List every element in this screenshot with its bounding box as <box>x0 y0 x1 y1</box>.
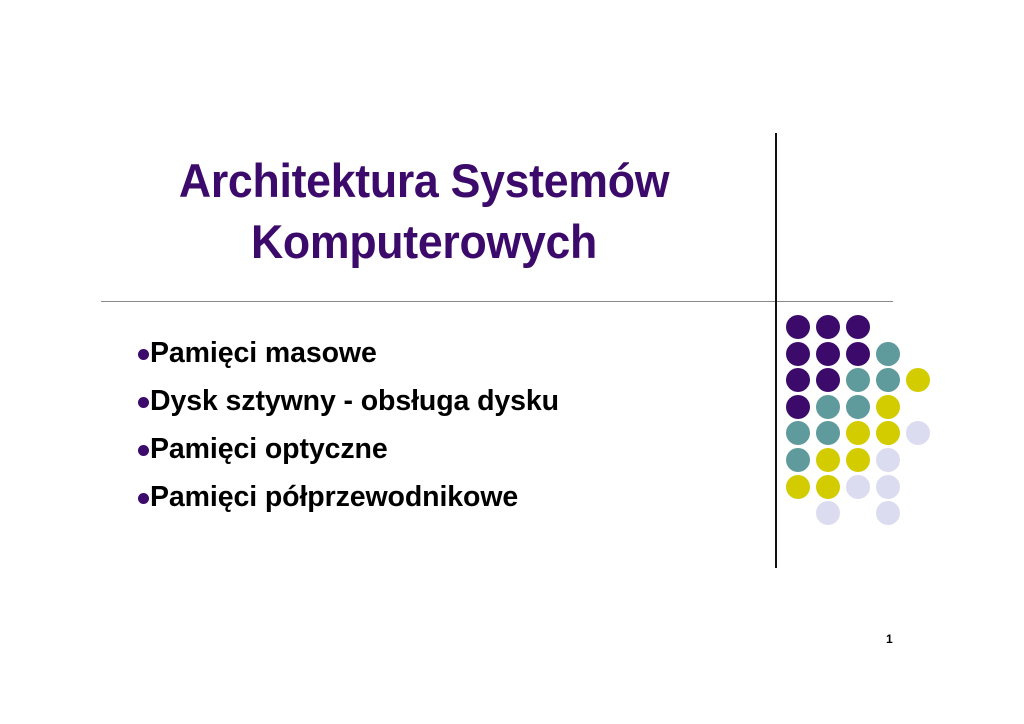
list-item: Pamięci półprzewodnikowe <box>138 473 738 521</box>
dot-purple-icon <box>786 395 810 419</box>
list-item-label: Pamięci masowe <box>150 336 377 370</box>
dot-lavender-icon <box>816 501 840 525</box>
dot-teal-icon <box>786 421 810 445</box>
dot-lavender-icon <box>876 448 900 472</box>
list-item: Dysk sztywny - obsługa dysku <box>138 377 738 425</box>
dot-matrix-row <box>786 395 936 422</box>
title-line-2: Komputerowych <box>103 211 745 272</box>
dot-purple-icon <box>846 342 870 366</box>
bullet-marker-icon <box>138 397 149 408</box>
vertical-divider-rule <box>775 133 777 568</box>
dot-purple-icon <box>786 315 810 339</box>
list-item-label: Pamięci półprzewodnikowe <box>150 480 518 514</box>
dot-yellow-icon <box>816 475 840 499</box>
dot-teal-icon <box>786 448 810 472</box>
dot-matrix-row <box>786 315 936 342</box>
dot-lavender-icon <box>876 475 900 499</box>
dot-teal-icon <box>816 421 840 445</box>
dot-yellow-icon <box>846 421 870 445</box>
slide-canvas: Architektura Systemów Komputerowych Pami… <box>0 0 1024 724</box>
dot-matrix-row <box>786 368 936 395</box>
dot-yellow-icon <box>816 448 840 472</box>
bullet-marker-icon <box>138 445 149 456</box>
dot-yellow-icon <box>876 421 900 445</box>
dot-yellow-icon <box>786 475 810 499</box>
dot-teal-icon <box>876 342 900 366</box>
dot-teal-icon <box>846 395 870 419</box>
dot-matrix-row <box>786 501 936 528</box>
dot-purple-icon <box>786 368 810 392</box>
dot-yellow-icon <box>846 448 870 472</box>
dot-purple-icon <box>786 342 810 366</box>
page-number: 1 <box>886 632 893 646</box>
dot-matrix-row <box>786 421 936 448</box>
list-item-label: Pamięci optyczne <box>150 432 388 466</box>
dot-teal-icon <box>816 395 840 419</box>
dot-lavender-icon <box>876 501 900 525</box>
list-item-label: Dysk sztywny - obsługa dysku <box>150 384 559 418</box>
bullet-marker-icon <box>138 493 149 504</box>
list-item: Pamięci masowe <box>138 329 738 377</box>
dot-yellow-icon <box>876 395 900 419</box>
dot-lavender-icon <box>906 421 930 445</box>
agenda-bullet-list: Pamięci masowe Dysk sztywny - obsługa dy… <box>138 329 738 521</box>
dot-purple-icon <box>846 315 870 339</box>
dot-matrix-row <box>786 342 936 369</box>
list-item: Pamięci optyczne <box>138 425 738 473</box>
dot-teal-icon <box>846 368 870 392</box>
dot-lavender-icon <box>846 475 870 499</box>
title-line-1: Architektura Systemów <box>103 150 745 211</box>
bullet-marker-icon <box>138 349 149 360</box>
dot-yellow-icon <box>906 368 930 392</box>
dot-purple-icon <box>816 315 840 339</box>
dot-teal-icon <box>876 368 900 392</box>
slide-title: Architektura Systemów Komputerowych <box>86 150 762 272</box>
dot-matrix-row <box>786 475 936 502</box>
dot-purple-icon <box>816 342 840 366</box>
decorative-dot-matrix <box>786 315 936 535</box>
dot-purple-icon <box>816 368 840 392</box>
dot-matrix-row <box>786 448 936 475</box>
